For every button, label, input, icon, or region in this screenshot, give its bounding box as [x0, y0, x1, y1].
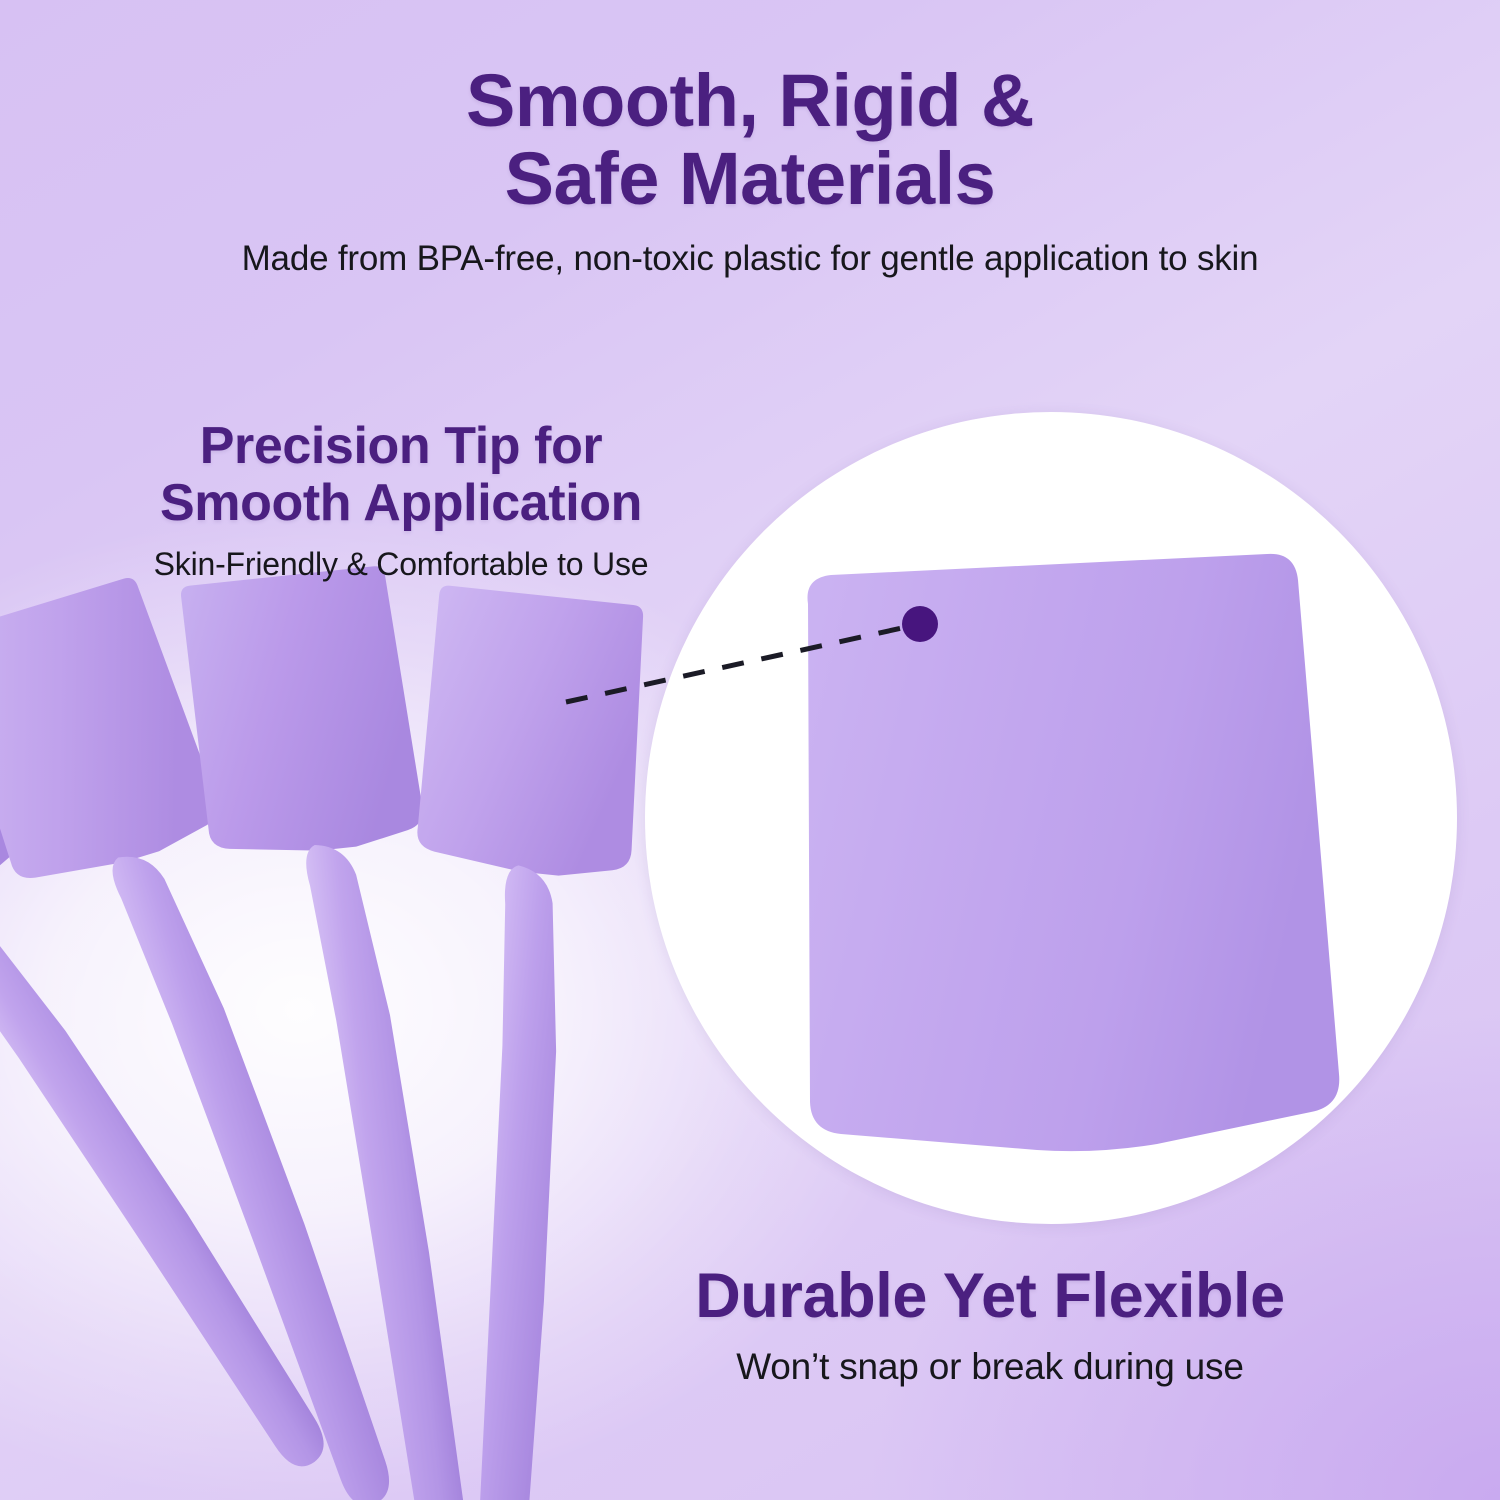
hero-title-line-2: Safe Materials — [505, 137, 996, 220]
feature-precision-tip-title-line-1: Precision Tip for — [200, 417, 603, 475]
feature-durable-title: Durable Yet Flexible — [520, 1262, 1460, 1330]
hero-subtitle: Made from BPA-free, non-toxic plastic fo… — [0, 239, 1500, 279]
spatula-item — [0, 630, 361, 1500]
magnified-detail-circle — [645, 412, 1457, 1224]
feature-durable-subtitle: Won’t snap or break during use — [520, 1346, 1460, 1388]
feature-precision-tip-block: Precision Tip for Smooth Application Ski… — [56, 418, 746, 583]
feature-precision-tip-subtitle: Skin-Friendly & Comfortable to Use — [56, 546, 746, 583]
hero-title: Smooth, Rigid & Safe Materials — [0, 62, 1500, 219]
magnified-spatula-tip — [807, 554, 1339, 1151]
hero-title-line-1: Smooth, Rigid & — [466, 59, 1034, 142]
spatula-item — [0, 572, 427, 1500]
feature-durable-block: Durable Yet Flexible Won’t snap or break… — [520, 1262, 1460, 1388]
spatula-item — [180, 564, 499, 1500]
hero-text-block: Smooth, Rigid & Safe Materials Made from… — [0, 62, 1500, 279]
feature-precision-tip-title-line-2: Smooth Application — [160, 474, 642, 532]
product-infographic: Smooth, Rigid & Safe Materials Made from… — [0, 0, 1500, 1500]
feature-precision-tip-title: Precision Tip for Smooth Application — [56, 418, 746, 532]
